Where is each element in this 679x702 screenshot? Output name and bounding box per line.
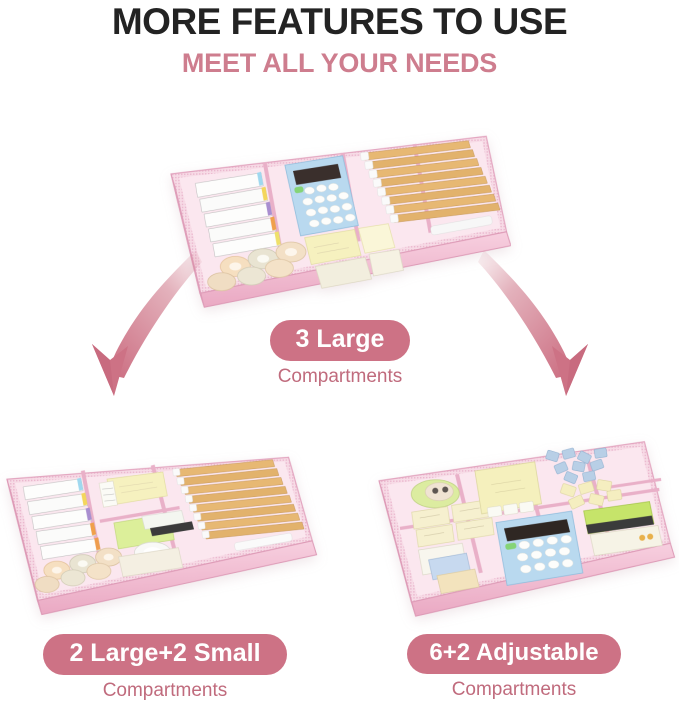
caption-3-large: 3 Large Compartments <box>230 320 450 388</box>
caption-2-large-2-small: 2 Large+2 Small Compartments <box>0 634 330 702</box>
curved-arrow-down-left-icon <box>62 248 212 408</box>
caption-sub-6-plus-2-adjustable: Compartments <box>349 679 679 701</box>
product-feature-infographic: MORE FEATURES TO USE MEET ALL YOUR NEEDS <box>0 0 679 700</box>
curved-arrow-down-right-icon <box>468 248 618 408</box>
page-subtitle: MEET ALL YOUR NEEDS <box>0 48 679 78</box>
organizer-tray-2-large-2-small <box>0 429 322 628</box>
organizer-tray-6-plus-2-adjustable <box>368 427 679 629</box>
badge-3-large: 3 Large <box>270 320 411 361</box>
badge-6-plus-2-adjustable: 6+2 Adjustable <box>407 634 620 674</box>
page-title: MORE FEATURES TO USE <box>0 2 679 42</box>
caption-sub-2-large-2-small: Compartments <box>0 680 330 702</box>
badge-2-large-2-small: 2 Large+2 Small <box>43 634 286 675</box>
caption-6-plus-2-adjustable: 6+2 Adjustable Compartments <box>349 634 679 701</box>
caption-sub-3-large: Compartments <box>230 366 450 388</box>
